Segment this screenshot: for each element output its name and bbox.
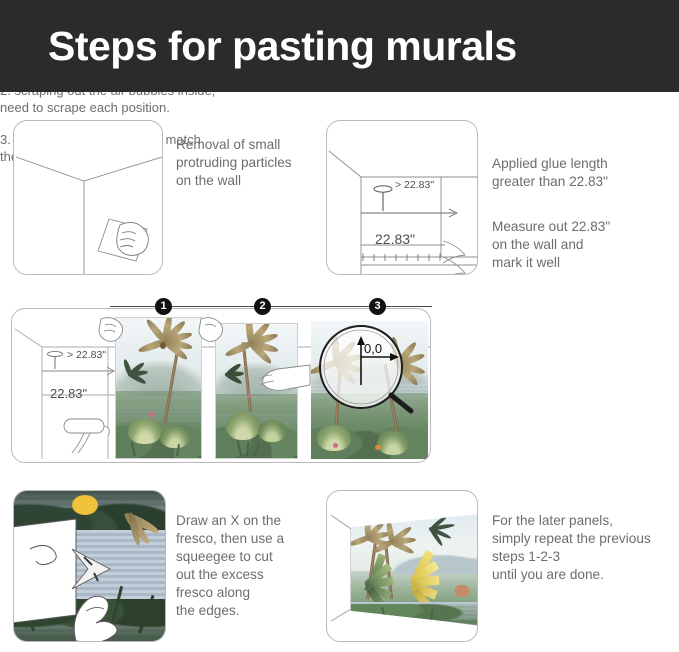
wall-measure-sketch-icon <box>327 121 478 275</box>
squeegee-hand-icon <box>248 363 312 397</box>
badge-rule-1-2 <box>172 306 254 307</box>
page-title: Steps for pasting murals <box>48 23 517 70</box>
caption-wall-prep: Removal of small protruding particles on… <box>176 136 321 190</box>
caption-glue-length: Applied glue length greater than 22.83" <box>492 155 672 191</box>
dimension-greater-than: > 22.83" <box>395 179 434 191</box>
panel-cut <box>13 490 166 642</box>
caption-final: For the later panels, simply repeat the … <box>492 512 679 584</box>
hand-peeling-icon-2 <box>198 315 224 349</box>
wall-corner-sketch-icon <box>14 121 163 275</box>
hand-peeling-icon-1 <box>98 315 124 351</box>
mural-artwork-strip-1 <box>116 318 201 458</box>
x-cut-and-hand-icon <box>14 491 166 642</box>
step-badge-3: 3 <box>369 298 386 315</box>
panel-final <box>326 490 478 642</box>
dimension-mark: 22.83" <box>375 231 415 247</box>
step-badge-1: 1 <box>155 298 172 315</box>
caption-cut: Draw an X on the fresco, then use a sque… <box>176 512 326 620</box>
panel-apply-strips: 0,0 > 22.83" 22.83" <box>11 308 431 463</box>
badge-rule-left <box>110 306 155 307</box>
apply-dimension-mark: 22.83" <box>50 386 87 401</box>
magnifier-origin-icon <box>313 323 419 415</box>
origin-coordinate-label: 0,0 <box>364 341 382 356</box>
badge-rule-2-3 <box>271 306 369 307</box>
page-header: Steps for pasting murals <box>0 0 679 92</box>
wallpaper-strip-1 <box>115 317 202 459</box>
step-badge-2: 2 <box>254 298 271 315</box>
panel-wall-prep <box>13 120 163 275</box>
mural-artwork-final <box>351 511 477 627</box>
panel-measure: > 22.83" 22.83" <box>326 120 478 275</box>
apply-dimension-greater: > 22.83" <box>67 349 106 361</box>
badge-rule-right <box>386 306 432 307</box>
caption-measure-out: Measure out 22.83" on the wall and mark … <box>492 218 672 272</box>
